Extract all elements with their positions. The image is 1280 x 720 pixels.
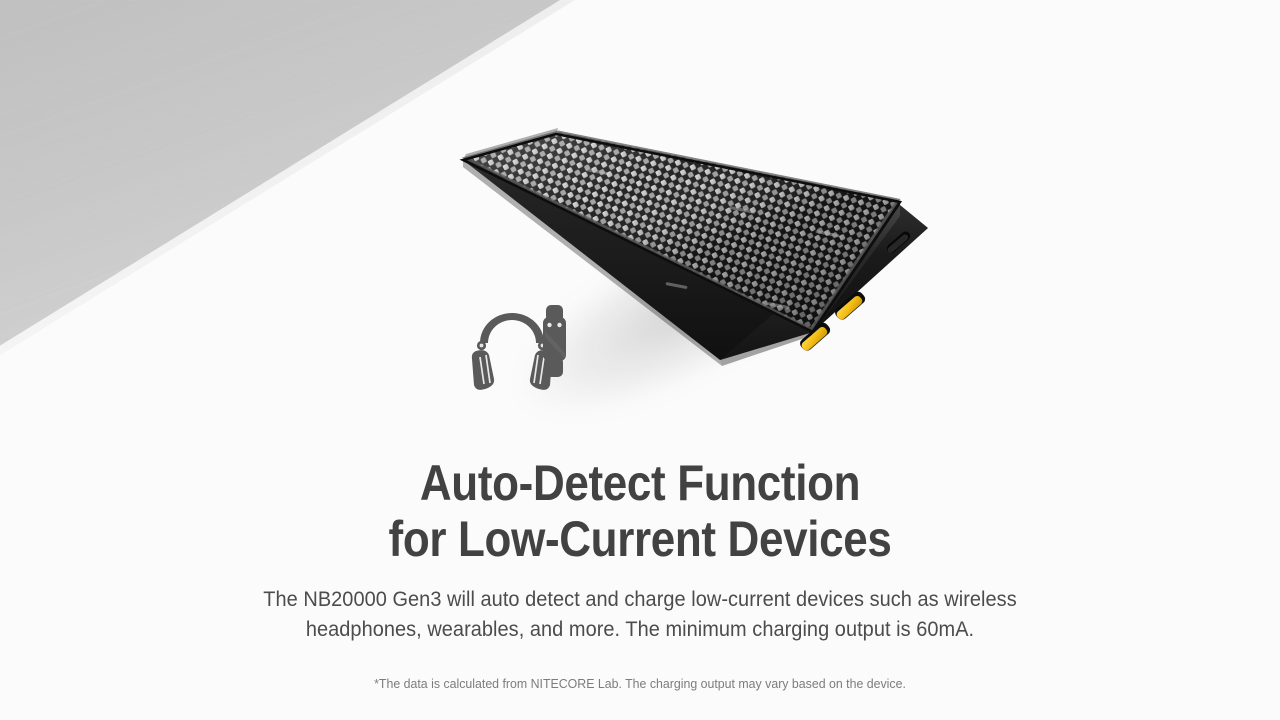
marketing-banner: Auto-Detect Function for Low-Current Dev…: [0, 0, 1280, 720]
body-text: The NB20000 Gen3 will auto detect and ch…: [213, 585, 1068, 645]
headline-line-2: for Low-Current Devices: [389, 511, 892, 567]
headline-line-1: Auto-Detect Function: [420, 455, 860, 511]
footnote-text: *The data is calculated from NITECORE La…: [32, 675, 1248, 692]
compatible-device-icons: [430, 303, 590, 393]
page-title: Auto-Detect Function for Low-Current Dev…: [77, 455, 1203, 567]
copy-block: Auto-Detect Function for Low-Current Dev…: [0, 455, 1280, 645]
